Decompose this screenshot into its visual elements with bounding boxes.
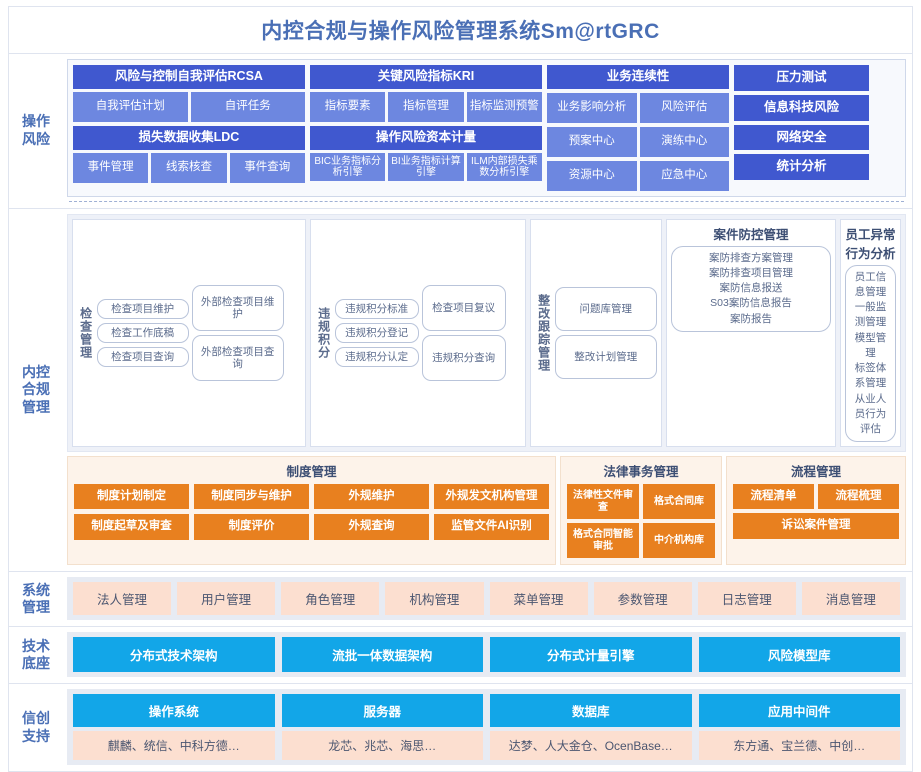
panel-title: 制度管理 [74, 461, 549, 480]
process-button[interactable]: 流程梳理 [818, 484, 899, 509]
dashed-divider [69, 201, 904, 202]
system-item[interactable]: 日志管理 [698, 582, 796, 615]
xinchuang-head[interactable]: 服务器 [282, 694, 484, 727]
band-label-line1: 操作 [22, 113, 50, 129]
pill-group-right: 检查项目复议 违规积分查询 [422, 285, 506, 381]
or-item-cyber-security[interactable]: 网络安全 [734, 125, 869, 151]
sub-item[interactable]: 演练中心 [640, 127, 730, 157]
sub-item[interactable]: 指标管理 [388, 92, 463, 122]
list-item[interactable]: 从业人员行为评估 [852, 392, 889, 438]
group-capital: 操作风险资本计量 BIC业务指标分析引擎 BI业务指标计算引擎 ILM内部损失乘… [310, 126, 542, 181]
pill-item[interactable]: 外部检查项目维护 [192, 285, 284, 331]
band-label-line1: 信创 [22, 710, 50, 726]
pill-item[interactable]: 检查项目复议 [422, 285, 506, 331]
card-case-prevention: 案件防控管理 案防排查方案管理 案防排查项目管理 案防信息报送 S03案防信息报… [666, 219, 836, 447]
xinchuang-column: 应用中间件 东方通、宝兰德、中创… [699, 694, 901, 760]
list-item[interactable]: 标签体系管理 [852, 361, 889, 391]
legal-button[interactable]: 格式合同库 [643, 484, 715, 519]
card-inspection-mgmt: 检查管理 检查项目维护 检查工作底稿 检查项目查询 外部检查项目维护 外部检查项… [72, 219, 306, 447]
band-label-line2: 管理 [22, 599, 50, 615]
policy-button[interactable]: 制度评价 [194, 514, 309, 539]
band-label-line1: 内控 [22, 364, 50, 380]
group-header-capital[interactable]: 操作风险资本计量 [310, 126, 542, 150]
system-item[interactable]: 法人管理 [73, 582, 171, 615]
band-label-line2: 风险 [22, 131, 50, 147]
pill-item[interactable]: 违规积分认定 [335, 347, 419, 367]
group-kri: 关键风险指标KRI 指标要素 指标管理 指标监测预警 [310, 65, 542, 122]
group-subs-kri: 指标要素 指标管理 指标监测预警 [310, 92, 542, 122]
list-item[interactable]: S03案防信息报告 [678, 296, 824, 311]
band-label-tech-base: 技术 底座 [9, 627, 63, 683]
card-vlabel: 整改跟踪管理 [535, 294, 552, 372]
list-item[interactable]: 案防报告 [678, 312, 824, 327]
sub-item[interactable]: 资源中心 [547, 161, 637, 191]
pill-item[interactable]: 整改计划管理 [555, 335, 657, 379]
sub-item[interactable]: ILM内部损失乘数分析引擎 [467, 153, 542, 181]
group-header-kri[interactable]: 关键风险指标KRI [310, 65, 542, 89]
system-item[interactable]: 参数管理 [594, 582, 692, 615]
policy-button[interactable]: 外规查询 [314, 514, 429, 539]
page-title: 内控合规与操作风险管理系统Sm@rtGRC [261, 15, 660, 45]
band-label-system-mgmt: 系统 管理 [9, 572, 63, 626]
internal-control-cards: 检查管理 检查项目维护 检查工作底稿 检查项目查询 外部检查项目维护 外部检查项… [67, 214, 906, 452]
band-label-line2: 合规 [22, 381, 50, 397]
tech-base-strip: 分布式技术架构 流批一体数据架构 分布式计量引擎 风险模型库 [67, 632, 906, 677]
sub-item[interactable]: 线索核查 [151, 153, 226, 183]
system-item[interactable]: 角色管理 [281, 582, 379, 615]
band-label-operational-risk: 操作 风险 [9, 54, 63, 208]
pill-item[interactable]: 违规积分标准 [335, 299, 419, 319]
sub-item[interactable]: 预案中心 [547, 127, 637, 157]
band-body-tech-base: 分布式技术架构 流批一体数据架构 分布式计量引擎 风险模型库 [63, 627, 912, 683]
system-item[interactable]: 用户管理 [177, 582, 275, 615]
policy-button[interactable]: 监管文件AI识别 [434, 514, 549, 539]
title-bar: 内控合规与操作风险管理系统Sm@rtGRC [8, 6, 913, 53]
sub-item[interactable]: BIC业务指标分析引擎 [310, 153, 385, 181]
operational-risk-grid: 风险与控制自我评估RCSA 自我评估计划 自评任务 损失数据收集LDC 事件管理… [67, 59, 906, 197]
pill-item[interactable]: 检查项目查询 [97, 347, 189, 367]
system-mgmt-strip: 法人管理 用户管理 角色管理 机构管理 菜单管理 参数管理 日志管理 消息管理 [67, 577, 906, 620]
diagram-root: 内控合规与操作风险管理系统Sm@rtGRC 操作 风险 风险与控制自我评估RCS… [0, 0, 921, 640]
list-item[interactable]: 案防排查项目管理 [678, 266, 824, 281]
sub-item[interactable]: 事件查询 [230, 153, 305, 183]
policy-button[interactable]: 制度起草及审查 [74, 514, 189, 539]
group-subs-capital: BIC业务指标分析引擎 BI业务指标计算引擎 ILM内部损失乘数分析引擎 [310, 153, 542, 181]
card-employee-behavior: 员工异常行为分析 员工信息管理 一般监测管理 模型管理 标签体系管理 从业人员行… [840, 219, 901, 447]
xinchuang-body: 东方通、宝兰德、中创… [699, 731, 901, 760]
list-item[interactable]: 员工信息管理 [852, 270, 889, 300]
band-body-operational-risk: 风险与控制自我评估RCSA 自我评估计划 自评任务 损失数据收集LDC 事件管理… [63, 54, 912, 208]
band-label-line1: 技术 [22, 638, 50, 654]
band-xinchuang: 信创 支持 操作系统 麒麟、统信、中科方德… 服务器 龙芯、兆芯、海思… 数据库… [8, 684, 913, 772]
band-label-line1: 系统 [22, 582, 50, 598]
sub-item[interactable]: 应急中心 [640, 161, 730, 191]
pill-group-left: 检查项目维护 检查工作底稿 检查项目查询 [97, 299, 189, 367]
policy-grid: 制度计划制定 制度同步与维护 外规维护 外规发文机构管理 制度起草及审查 制度评… [74, 484, 549, 539]
process-button[interactable]: 流程清单 [733, 484, 814, 509]
tech-item[interactable]: 分布式技术架构 [73, 637, 275, 672]
pill-item[interactable]: 问题库管理 [555, 287, 657, 331]
sub-item[interactable]: 业务影响分析 [547, 93, 637, 123]
band-body-internal-control: 检查管理 检查项目维护 检查工作底稿 检查项目查询 外部检查项目维护 外部检查项… [63, 209, 912, 571]
system-item[interactable]: 消息管理 [802, 582, 900, 615]
or-column-kri-capital: 关键风险指标KRI 指标要素 指标管理 指标监测预警 操作风险资本计量 BIC业… [310, 65, 542, 191]
band-label-xinchuang: 信创 支持 [9, 684, 63, 771]
band-operational-risk: 操作 风险 风险与控制自我评估RCSA 自我评估计划 自评任务 损失数据收集 [8, 53, 913, 209]
sub-item[interactable]: 事件管理 [73, 153, 148, 183]
card-title: 员工异常行为分析 [845, 224, 896, 262]
list-item[interactable]: 模型管理 [852, 331, 889, 361]
xinchuang-body: 龙芯、兆芯、海思… [282, 731, 484, 760]
sub-item[interactable]: BI业务指标计算引擎 [388, 153, 463, 181]
legal-grid: 法律性文件审查 格式合同库 格式合同智能审批 中介机构库 [567, 484, 715, 558]
xinchuang-head[interactable]: 操作系统 [73, 694, 275, 727]
pill-group-right: 问题库管理 整改计划管理 [555, 287, 657, 379]
xinchuang-body: 麒麟、统信、中科方德… [73, 731, 275, 760]
band-label-line2: 底座 [22, 655, 50, 671]
panel-title: 流程管理 [733, 461, 899, 480]
or-item-stress-test[interactable]: 压力测试 [734, 65, 869, 91]
or-item-statistics[interactable]: 统计分析 [734, 154, 869, 180]
xinchuang-body: 达梦、人大金仓、OcenBase… [490, 731, 692, 760]
pill-item[interactable]: 违规积分登记 [335, 323, 419, 343]
or-item-it-risk[interactable]: 信息科技风险 [734, 95, 869, 121]
or-column-bcm: 业务连续性 业务影响分析 风险评估 预案中心 演练中心 资源中心 应急中心 [547, 65, 729, 191]
group-ldc: 损失数据收集LDC 事件管理 线索核查 事件查询 [73, 126, 305, 183]
case-prevention-list[interactable]: 案防排查方案管理 案防排查项目管理 案防信息报送 S03案防信息报告 案防报告 [671, 246, 831, 332]
panel-policy-mgmt: 制度管理 制度计划制定 制度同步与维护 外规维护 外规发文机构管理 制度起草及审… [67, 456, 556, 565]
panel-legal-affairs: 法律事务管理 法律性文件审查 格式合同库 格式合同智能审批 中介机构库 [560, 456, 722, 565]
group-subs-ldc: 事件管理 线索核查 事件查询 [73, 153, 305, 183]
band-system-mgmt: 系统 管理 法人管理 用户管理 角色管理 机构管理 菜单管理 参数管理 日志管理… [8, 572, 913, 627]
system-item[interactable]: 菜单管理 [490, 582, 588, 615]
policy-button[interactable]: 制度同步与维护 [194, 484, 309, 509]
band-label-internal-control: 内控 合规 管理 [9, 209, 63, 571]
band-body-xinchuang: 操作系统 麒麟、统信、中科方德… 服务器 龙芯、兆芯、海思… 数据库 达梦、人大… [63, 684, 912, 771]
band-internal-control: 内控 合规 管理 检查管理 检查项目维护 检查工作底稿 检查项目查询 外部检查项… [8, 209, 913, 572]
card-title: 案件防控管理 [671, 224, 831, 243]
orange-panels: 制度管理 制度计划制定 制度同步与维护 外规维护 外规发文机构管理 制度起草及审… [67, 456, 906, 565]
xinchuang-column: 数据库 达梦、人大金仓、OcenBase… [490, 694, 692, 760]
panel-process-mgmt: 流程管理 流程清单 流程梳理 诉讼案件管理 [726, 456, 906, 565]
sub-item[interactable]: 指标监测预警 [467, 92, 542, 122]
band-label-line3: 管理 [22, 399, 50, 415]
pill-group-right: 外部检查项目维护 外部检查项目查询 [192, 285, 284, 381]
group-header-rcsa[interactable]: 风险与控制自我评估RCSA [73, 65, 305, 89]
card-vlabel: 违规积分 [315, 307, 332, 359]
pill-item[interactable]: 违规积分查询 [422, 335, 506, 381]
legal-button[interactable]: 法律性文件审查 [567, 484, 639, 519]
sub-item[interactable]: 指标要素 [310, 92, 385, 122]
band-label-line2: 支持 [22, 728, 50, 744]
process-row: 流程清单 流程梳理 [733, 484, 899, 509]
pill-group-left: 违规积分标准 违规积分登记 违规积分认定 [335, 299, 419, 367]
tech-item[interactable]: 分布式计量引擎 [490, 637, 692, 672]
sub-item[interactable]: 自评任务 [191, 92, 306, 122]
xinchuang-strip: 操作系统 麒麟、统信、中科方德… 服务器 龙芯、兆芯、海思… 数据库 达梦、人大… [67, 689, 906, 765]
bcm-row: 资源中心 应急中心 [547, 161, 729, 191]
band-tech-base: 技术 底座 分布式技术架构 流批一体数据架构 分布式计量引擎 风险模型库 [8, 627, 913, 684]
pill-item[interactable]: 外部检查项目查询 [192, 335, 284, 381]
panel-title: 法律事务管理 [567, 461, 715, 480]
legal-button[interactable]: 格式合同智能审批 [567, 523, 639, 558]
list-item[interactable]: 案防排查方案管理 [678, 251, 824, 266]
xinchuang-head[interactable]: 数据库 [490, 694, 692, 727]
policy-button[interactable]: 外规发文机构管理 [434, 484, 549, 509]
card-rectification-tracking: 整改跟踪管理 问题库管理 整改计划管理 [530, 219, 662, 447]
process-group: 流程清单 流程梳理 诉讼案件管理 [733, 484, 899, 538]
band-body-system-mgmt: 法人管理 用户管理 角色管理 机构管理 菜单管理 参数管理 日志管理 消息管理 [63, 572, 912, 626]
group-rcsa: 风险与控制自我评估RCSA 自我评估计划 自评任务 [73, 65, 305, 122]
card-vlabel: 检查管理 [77, 307, 94, 359]
system-item[interactable]: 机构管理 [385, 582, 483, 615]
group-header-ldc[interactable]: 损失数据收集LDC [73, 126, 305, 150]
tech-item[interactable]: 流批一体数据架构 [282, 637, 484, 672]
policy-button[interactable]: 制度计划制定 [74, 484, 189, 509]
xinchuang-column: 操作系统 麒麟、统信、中科方德… [73, 694, 275, 760]
pill-item[interactable]: 检查项目维护 [97, 299, 189, 319]
bcm-row: 业务影响分析 风险评估 [547, 93, 729, 123]
sub-item[interactable]: 风险评估 [640, 93, 730, 123]
xinchuang-column: 服务器 龙芯、兆芯、海思… [282, 694, 484, 760]
list-item[interactable]: 案防信息报送 [678, 281, 824, 296]
or-column-rcsa-ldc: 风险与控制自我评估RCSA 自我评估计划 自评任务 损失数据收集LDC 事件管理… [73, 65, 305, 191]
legal-button[interactable]: 中介机构库 [643, 523, 715, 558]
xinchuang-head[interactable]: 应用中间件 [699, 694, 901, 727]
group-header-bcm[interactable]: 业务连续性 [547, 65, 729, 89]
group-subs-rcsa: 自我评估计划 自评任务 [73, 92, 305, 122]
list-item[interactable]: 一般监测管理 [852, 300, 889, 330]
sub-item[interactable]: 自我评估计划 [73, 92, 188, 122]
or-column-misc: 压力测试 信息科技风险 网络安全 统计分析 [734, 65, 869, 191]
process-button-litigation[interactable]: 诉讼案件管理 [733, 513, 899, 538]
employee-behavior-list[interactable]: 员工信息管理 一般监测管理 模型管理 标签体系管理 从业人员行为评估 [845, 265, 896, 442]
tech-item[interactable]: 风险模型库 [699, 637, 901, 672]
bcm-row: 预案中心 演练中心 [547, 127, 729, 157]
policy-button[interactable]: 外规维护 [314, 484, 429, 509]
card-violation-points: 违规积分 违规积分标准 违规积分登记 违规积分认定 检查项目复议 违规积分查询 [310, 219, 526, 447]
pill-item[interactable]: 检查工作底稿 [97, 323, 189, 343]
